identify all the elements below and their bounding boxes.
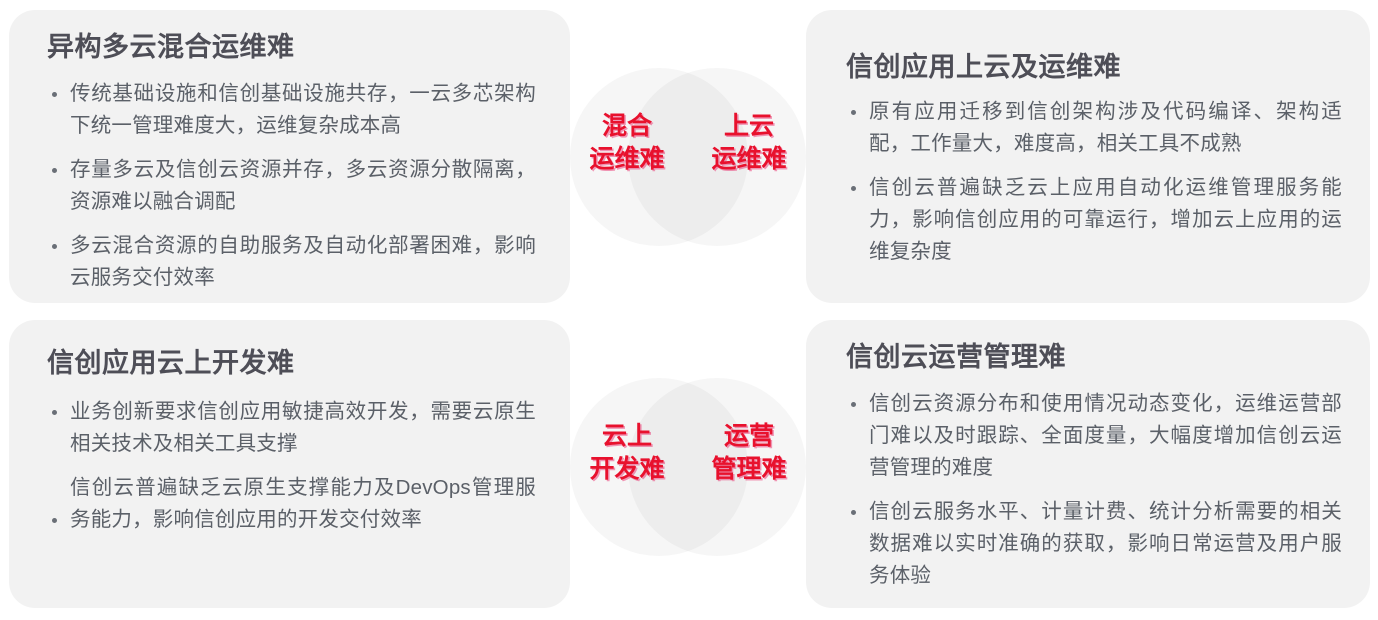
challenges-board: 异构多云混合运维难 传统基础设施和信创基础设施共存，一云多芯架构下统一管理难度大… [0,0,1378,620]
venn-label-line2: 运维难 [688,143,810,176]
card-top-right-content: 信创应用上云及运维难 原有应用迁移到信创架构涉及代码编译、架构适配，工作量大，难… [806,10,1370,303]
venn-label-line1: 云上 [602,422,652,450]
list-item-text: 信创云普遍缺乏云上应用自动化运维管理服务能力，影响信创应用的可靠运行，增加云上应… [869,176,1342,263]
venn-label-line1: 混合 [602,112,652,140]
venn-diagram-bottom: 云上 开发难 运营 管理难 [570,372,806,572]
venn-label-line2: 开发难 [566,453,688,486]
list-item-text: 信创云服务水平、计量计费、统计分析需要的相关数据难以实时准确的获取，影响日常运营… [869,500,1342,587]
list-item-text: 信创云普遍缺乏云原生支撑能力及DevOps管理服务能力，影响信创应用的开发交付效… [70,476,536,531]
venn-label-top-left: 混合 运维难 [566,110,688,176]
list-item: 信创云普遍缺乏云原生支撑能力及DevOps管理服务能力，影响信创应用的开发交付效… [47,472,536,536]
venn-label-line1: 上云 [724,112,774,140]
card-top-right: 信创应用上云及运维难 原有应用迁移到信创架构涉及代码编译、架构适配，工作量大，难… [806,10,1370,303]
venn-label-line1: 运营 [724,422,774,450]
list-item: 业务创新要求信创应用敏捷高效开发，需要云原生相关技术及相关工具支撑 [47,396,536,460]
card-top-left-title: 异构多云混合运维难 [47,30,536,64]
list-item: 多云混合资源的自助服务及自动化部署困难，影响云服务交付效率 [47,230,536,294]
bullet-dot-icon [851,186,856,191]
card-top-right-bullet-list: 原有应用迁移到信创架构涉及代码编译、架构适配，工作量大，难度高，相关工具不成熟 … [846,96,1342,268]
card-top-right-title: 信创应用上云及运维难 [846,50,1342,84]
card-top-left-bullet-list: 传统基础设施和信创基础设施共存，一云多芯架构下统一管理难度大，运维复杂成本高 存… [47,78,536,294]
list-item: 信创云资源分布和使用情况动态变化，运维运营部门难以及时跟踪、全面度量，大幅度增加… [846,388,1342,484]
card-bottom-right-content: 信创云运营管理难 信创云资源分布和使用情况动态变化，运维运营部门难以及时跟踪、全… [806,320,1370,608]
list-item: 存量多云及信创云资源并存，多云资源分散隔离，资源难以融合调配 [47,154,536,218]
list-item-text: 传统基础设施和信创基础设施共存，一云多芯架构下统一管理难度大，运维复杂成本高 [70,82,536,137]
list-item: 信创云普遍缺乏云上应用自动化运维管理服务能力，影响信创应用的可靠运行，增加云上应… [846,172,1342,268]
venn-label-line2: 运维难 [566,143,688,176]
bullet-dot-icon [52,410,57,415]
list-item-text: 多云混合资源的自助服务及自动化部署困难，影响云服务交付效率 [70,234,536,289]
card-bottom-right: 信创云运营管理难 信创云资源分布和使用情况动态变化，运维运营部门难以及时跟踪、全… [806,320,1370,608]
card-top-left: 异构多云混合运维难 传统基础设施和信创基础设施共存，一云多芯架构下统一管理难度大… [9,10,570,303]
list-item: 原有应用迁移到信创架构涉及代码编译、架构适配，工作量大，难度高，相关工具不成熟 [846,96,1342,160]
venn-label-top-right: 上云 运维难 [688,110,810,176]
card-top-left-content: 异构多云混合运维难 传统基础设施和信创基础设施共存，一云多芯架构下统一管理难度大… [9,10,570,303]
bullet-dot-icon [52,518,57,523]
list-item-text: 原有应用迁移到信创架构涉及代码编译、架构适配，工作量大，难度高，相关工具不成熟 [869,100,1342,155]
card-bottom-left: 信创应用云上开发难 业务创新要求信创应用敏捷高效开发，需要云原生相关技术及相关工… [9,320,570,608]
venn-diagram-top: 混合 运维难 上云 运维难 [570,62,806,262]
card-bottom-left-title: 信创应用云上开发难 [47,346,536,380]
list-item: 信创云服务水平、计量计费、统计分析需要的相关数据难以实时准确的获取，影响日常运营… [846,496,1342,592]
list-item-text: 信创云资源分布和使用情况动态变化，运维运营部门难以及时跟踪、全面度量，大幅度增加… [869,392,1342,479]
bullet-dot-icon [52,244,57,249]
card-bottom-right-bullet-list: 信创云资源分布和使用情况动态变化，运维运营部门难以及时跟踪、全面度量，大幅度增加… [846,388,1342,592]
bullet-dot-icon [851,510,856,515]
bullet-dot-icon [52,92,57,97]
bullet-dot-icon [851,110,856,115]
bullet-dot-icon [851,402,856,407]
venn-label-bottom-right: 运营 管理难 [688,420,810,486]
list-item-text: 存量多云及信创云资源并存，多云资源分散隔离，资源难以融合调配 [70,158,536,213]
venn-label-line2: 管理难 [688,453,810,486]
venn-label-bottom-left: 云上 开发难 [566,420,688,486]
card-bottom-left-content: 信创应用云上开发难 业务创新要求信创应用敏捷高效开发，需要云原生相关技术及相关工… [9,320,570,608]
card-bottom-left-bullet-list: 业务创新要求信创应用敏捷高效开发，需要云原生相关技术及相关工具支撑 信创云普遍缺… [47,396,536,536]
list-item-text: 业务创新要求信创应用敏捷高效开发，需要云原生相关技术及相关工具支撑 [70,400,536,455]
bullet-dot-icon [52,168,57,173]
card-bottom-right-title: 信创云运营管理难 [846,340,1342,374]
list-item: 传统基础设施和信创基础设施共存，一云多芯架构下统一管理难度大，运维复杂成本高 [47,78,536,142]
